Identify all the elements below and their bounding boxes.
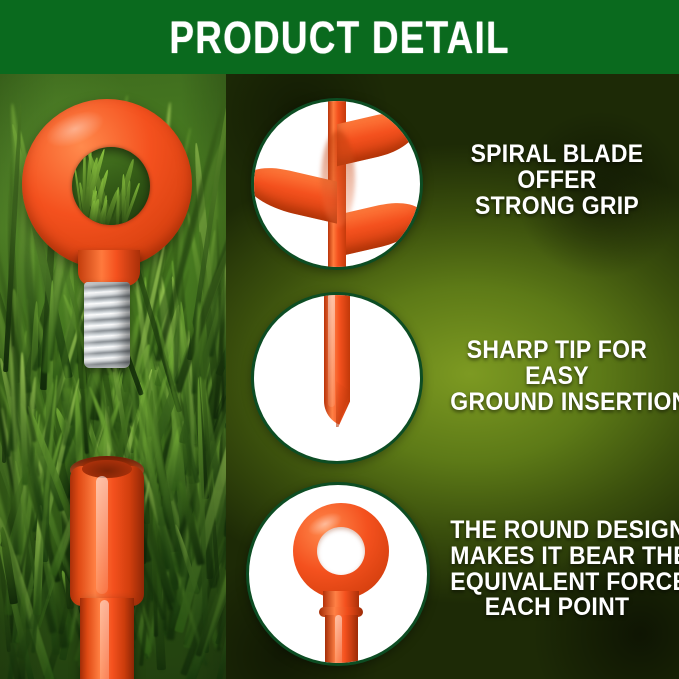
tip-highlight [328, 292, 335, 407]
feature-text-line: THE ROUND DESIGN [450, 518, 663, 544]
feature-circle-sharp-tip [251, 292, 423, 464]
feature-text-line: EASY [450, 364, 663, 390]
feature-text-line: OFFER [450, 168, 663, 194]
page-title: PRODUCT DETAIL [169, 15, 509, 60]
tube-shaft-highlight [100, 600, 109, 679]
eye-ring-neck [78, 250, 140, 286]
feature-text-line: SHARP TIP FOR [450, 338, 663, 364]
round-eye-hole [317, 527, 365, 575]
feature-text-line: STRONG GRIP [450, 194, 663, 220]
feature-text-line: MAKES IT BEAR THE [450, 544, 663, 570]
feature-text-round-design: THE ROUND DESIGN MAKES IT BEAR THE EQUIV… [450, 518, 663, 621]
feature-circle-spiral-blade [251, 98, 423, 270]
eye-ring-hole [72, 147, 150, 225]
feature-text-spiral-blade: SPIRAL BLADE OFFER STRONG GRIP [450, 142, 663, 219]
hex-coupler-bore [82, 460, 132, 478]
round-eye-shaft-highlight [335, 615, 342, 666]
feature-text-sharp-tip: SHARP TIP FOR EASY GROUND INSERTION [450, 338, 663, 415]
threaded-shaft-part [84, 282, 130, 368]
feature-text-line: EQUIVALENT FORCE ON [450, 570, 663, 596]
header-banner: PRODUCT DETAIL [0, 0, 679, 74]
anchor-product [0, 74, 226, 679]
feature-text-line: SPIRAL BLADE [450, 142, 663, 168]
spiral-shading [321, 131, 355, 227]
product-detail-image: PRODUCT DETAIL [0, 0, 679, 679]
content-area: SPIRAL BLADE OFFER STRONG GRIP SHARP TIP… [0, 74, 679, 679]
feature-circle-round-design [246, 482, 430, 666]
feature-text-line: EACH POINT [450, 595, 663, 621]
feature-text-line: GROUND INSERTION [450, 390, 663, 416]
hex-coupler-highlight [96, 476, 108, 594]
product-photo [0, 74, 226, 679]
